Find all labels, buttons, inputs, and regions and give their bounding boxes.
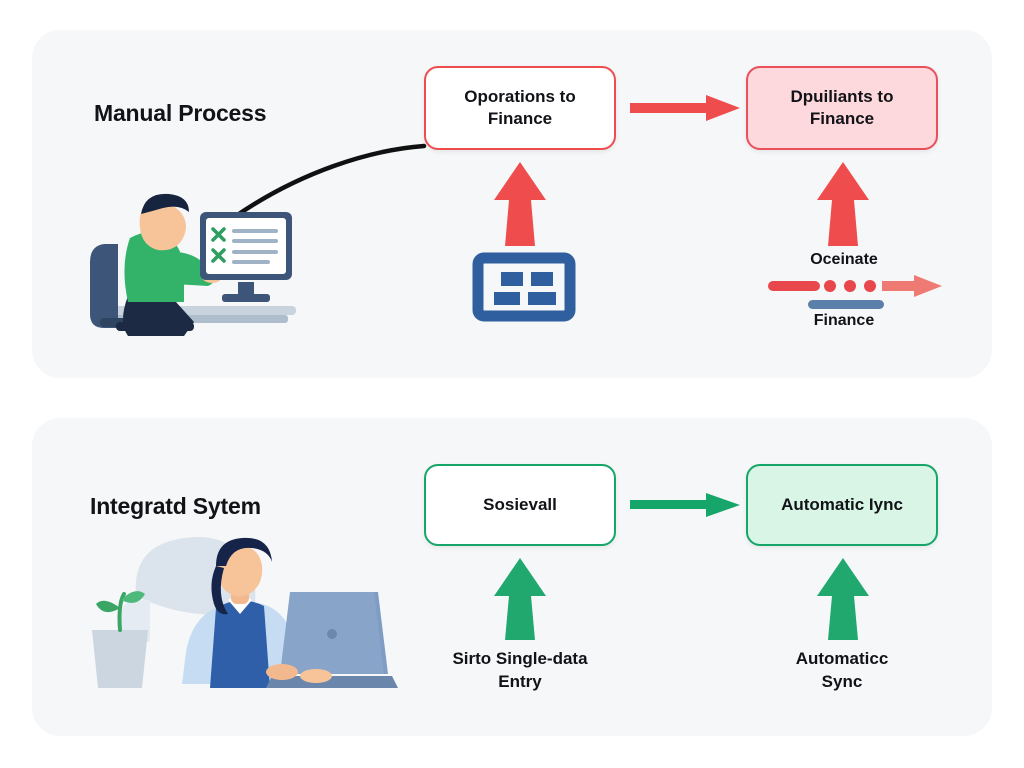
label-oceinate: Oceinate (744, 251, 944, 269)
caption-automatic-sync: Automaticc Sync (732, 648, 952, 693)
process-box-operations-to-finance[interactable]: Oporations to Finance (424, 66, 616, 150)
diagram-canvas: Manual Process Integratd Sytem (0, 0, 1024, 768)
caption-single-data-entry: Sirto Single-data Entry (410, 648, 630, 693)
manual-process-title: Manual Process (94, 100, 266, 127)
process-box-automatic-sync[interactable]: Automatic Iync (746, 464, 938, 546)
process-box-sosievall[interactable]: Sosievall (424, 464, 616, 546)
integrated-system-title: Integratd Sytem (90, 493, 261, 520)
process-box-duplicates-to-finance[interactable]: Dpuiliants to Finance (746, 66, 938, 150)
label-finance: Finance (744, 312, 944, 330)
